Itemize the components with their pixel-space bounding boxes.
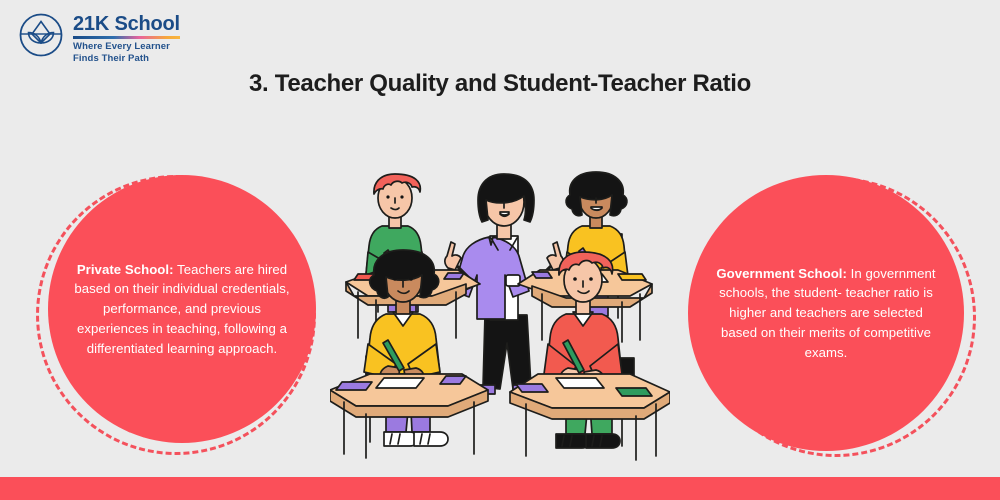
left-bubble-label: Private School: (77, 262, 174, 277)
brand-wordmark: 21K School Where Every Learner Finds The… (73, 12, 180, 65)
right-bubble-label: Government School: (716, 266, 847, 281)
private-school-bubble: Private School: Teachers are hired based… (36, 165, 336, 465)
brand-gradient-rule (73, 36, 180, 39)
brand-tagline-line1: Where Every Learner (73, 41, 180, 53)
page-title: 3. Teacher Quality and Student-Teacher R… (0, 70, 1000, 98)
lotus-circle-logo-icon (18, 12, 64, 58)
brand-tagline-line2: Finds Their Path (73, 53, 180, 65)
classroom-illustration: .ln{stroke:#1d1d1b;stroke-width:1.7;stro… (330, 140, 670, 470)
right-bubble-fill: Government School: In government schools… (688, 175, 964, 451)
right-bubble-text: Government School: In government schools… (688, 264, 964, 363)
brand-name: 21K School (73, 14, 180, 35)
left-bubble-fill: Private School: Teachers are hired based… (48, 175, 316, 443)
footer-accent-bar (0, 477, 1000, 500)
infographic-canvas: 21K School Where Every Learner Finds The… (0, 0, 1000, 500)
government-school-bubble: Government School: In government schools… (676, 165, 986, 475)
left-bubble-text: Private School: Teachers are hired based… (48, 260, 316, 359)
brand-logo[interactable]: 21K School Where Every Learner Finds The… (18, 12, 180, 65)
